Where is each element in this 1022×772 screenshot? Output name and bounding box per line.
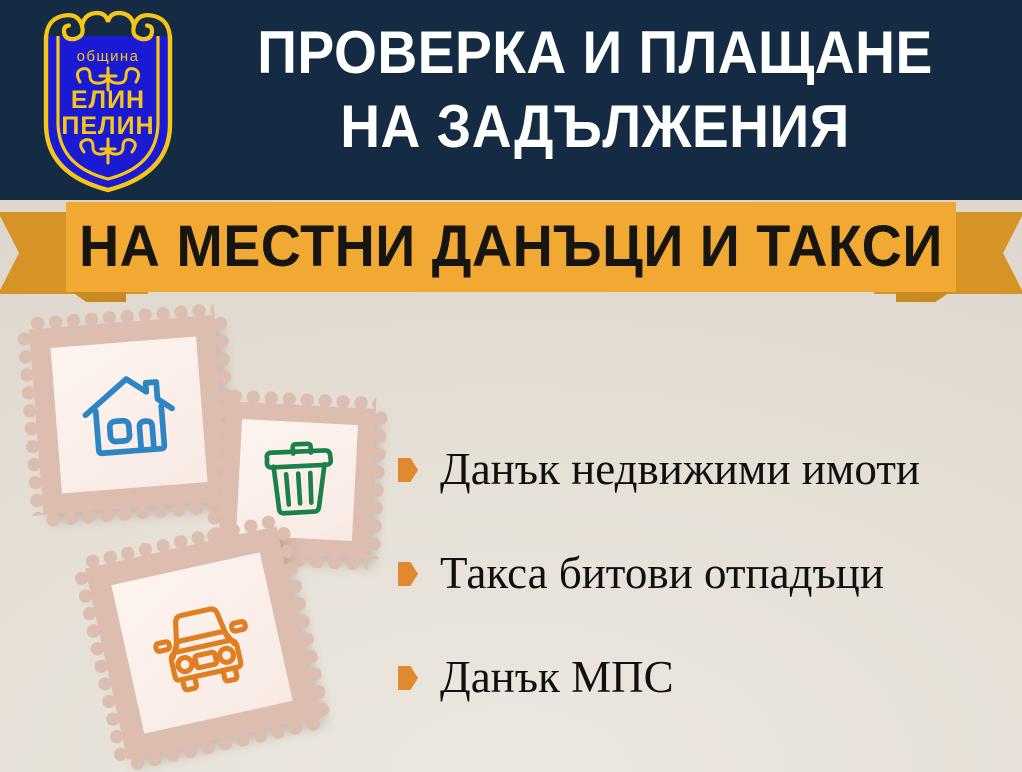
- arrow-bullet-icon: [398, 562, 418, 586]
- list-item[interactable]: Данък недвижими имоти: [398, 418, 1008, 522]
- house-icon: [72, 358, 186, 472]
- list-item-label: Данък недвижими имоти: [440, 445, 920, 495]
- list-item[interactable]: Такса битови отпадъци: [398, 522, 1008, 626]
- stamp-paper: [111, 552, 292, 733]
- tax-type-list: Данък недвижими имоти Такса битови отпад…: [398, 418, 1008, 730]
- coat-of-arms-logo: община ЕЛИН ПЕЛИН: [22, 6, 194, 196]
- crest-line-1: ЕЛИН: [71, 86, 145, 114]
- poster-canvas: ПРОВЕРКА И ПЛАЩАНЕ НА ЗАДЪЛЖЕНИЯ община: [0, 0, 1022, 772]
- crest-top-label: община: [77, 48, 140, 65]
- ribbon-banner: НА МЕСТНИ ДАНЪЦИ И ТАКСИ: [0, 196, 1022, 308]
- list-item-label: Данък МПС: [440, 653, 674, 703]
- stamp-edge-right: [367, 409, 388, 559]
- arrow-bullet-icon: [398, 458, 418, 482]
- arrow-bullet-icon: [398, 666, 418, 690]
- stamp-paper: [50, 336, 207, 493]
- page-title: ПРОВЕРКА И ПЛАЩАНЕ НА ЗАДЪЛЖЕНИЯ: [218, 16, 972, 164]
- trash-bin-icon: [252, 435, 342, 525]
- list-item[interactable]: Данък МПС: [398, 626, 1008, 730]
- car-icon: [135, 576, 269, 710]
- list-item-label: Такса битови отпадъци: [440, 549, 884, 599]
- stamp-real-estate: [29, 315, 229, 515]
- stamp-vehicle-tax: [85, 526, 319, 760]
- crest-line-2: ПЕЛИН: [61, 112, 154, 140]
- ribbon-label: НА МЕСТНИ ДАНЪЦИ И ТАКСИ: [79, 218, 943, 276]
- stamp-edge-left: [17, 330, 45, 516]
- ribbon-main-panel: НА МЕСТНИ ДАНЪЦИ И ТАКСИ: [66, 202, 956, 292]
